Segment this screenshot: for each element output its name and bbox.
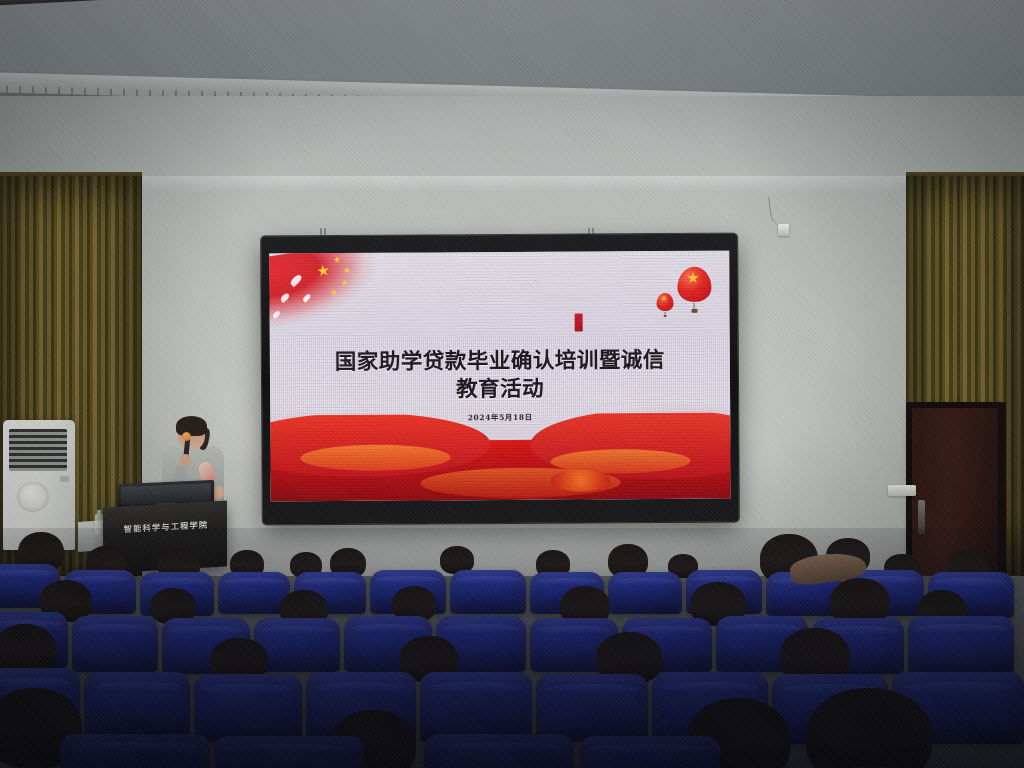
theater-seat[interactable] [908,616,1014,674]
theater-seat[interactable] [214,736,364,768]
led-display-bezel: ★★ ★★ ★ ★ ★ 国家助学贷款毕业确认 [261,234,739,525]
theater-seat[interactable] [420,672,532,742]
theater-seat[interactable] [60,734,210,768]
ac-indicator-icon [60,476,69,482]
red-silk-graphic [270,413,731,502]
theater-seat[interactable] [84,672,190,740]
ceiling-sensor-icon [778,224,789,236]
audience-head [806,688,932,768]
auditorium-photo: ★★ ★★ ★ ★ ★ 国家助学贷款毕业确认 [0,0,1024,768]
audience-head [0,624,56,674]
presenter-hair [176,416,207,436]
slide-title-line1: 国家助学贷款毕业确认培训暨诚信 [294,347,706,378]
door-hinge-icon [999,426,1004,438]
theater-seat[interactable] [608,572,682,614]
slide-title-line2: 教育活动 [294,375,706,406]
hot-air-balloon-icon: ★ [677,267,711,313]
slide-title: 国家助学贷款毕业确认培训暨诚信 教育活动 [294,347,706,406]
theater-seat[interactable] [536,674,648,742]
theater-seat[interactable] [72,616,158,672]
theater-seat[interactable] [424,734,574,768]
audience-area [0,528,1024,768]
theater-seat[interactable] [580,736,720,768]
door-hinge-icon [999,498,1004,510]
microphone-head-icon [182,432,191,441]
red-accent-mark [575,313,583,331]
hot-air-balloon-small-icon: ★ [656,293,673,317]
theater-seat[interactable] [450,570,526,614]
led-display-screen[interactable]: ★★ ★★ ★ ★ ★ 国家助学贷款毕业确认 [269,251,731,502]
theater-seat[interactable] [194,674,302,742]
ac-control-panel[interactable] [17,482,49,512]
ac-grille-icon [9,429,67,471]
presenter-hand [180,454,191,466]
wall-outlet-plate[interactable] [888,485,916,496]
